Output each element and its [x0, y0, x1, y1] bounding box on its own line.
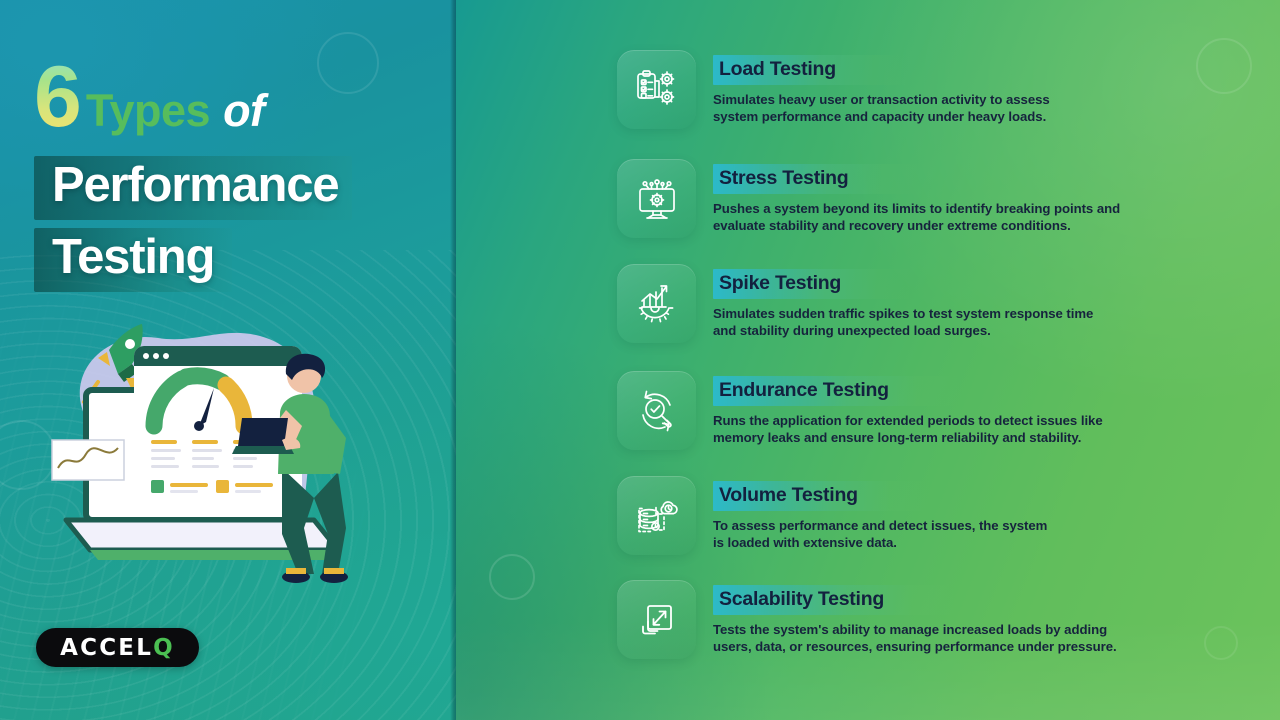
headline-band-testing: Testing [34, 228, 232, 292]
headline-types: Types [86, 88, 210, 142]
list-item-body: Volume Testing To assess performance and… [713, 476, 1047, 552]
list-item-body: Spike Testing Simulates sudden traffic s… [713, 264, 1093, 340]
bar-chart-gear-spike-icon [617, 264, 696, 343]
list-item[interactable]: Stress Testing Pushes a system beyond it… [617, 159, 1120, 238]
monitor-gear-stress-icon [617, 159, 696, 238]
left-panel: 6 Types of Performance Testing [0, 0, 456, 720]
headline-line-testing: Testing [52, 230, 214, 284]
logo-text: ACCELQ [60, 635, 175, 661]
list-item-description: Tests the system's ability to manage inc… [713, 621, 1117, 656]
list-item-body: Scalability Testing Tests the system's a… [713, 580, 1117, 656]
list-item-body: Load Testing Simulates heavy user or tra… [713, 50, 1050, 126]
headline-of: of [216, 88, 264, 142]
database-cloud-icon [617, 476, 696, 555]
list-item-title-bar: Scalability Testing [713, 585, 956, 615]
headline-row-top: 6 Types of [34, 54, 434, 142]
list-item-title-bar: Spike Testing [713, 269, 913, 299]
resize-squares-arrow-icon [617, 580, 696, 659]
logo-text-main: ACCEL [60, 635, 153, 661]
clipboard-gears-icon [617, 50, 696, 129]
headline-number: 6 [34, 54, 80, 142]
infographic-canvas: 6 Types of Performance Testing [0, 0, 1280, 720]
list-item[interactable]: Endurance Testing Runs the application f… [617, 371, 1103, 450]
list-item-title-bar: Volume Testing [713, 481, 930, 511]
line-chart-card [52, 440, 124, 480]
list-item-title-bar: Endurance Testing [713, 376, 961, 406]
list-item[interactable]: Volume Testing To assess performance and… [617, 476, 1047, 555]
list-item-description: Pushes a system beyond its limits to ide… [713, 200, 1120, 235]
list-item[interactable]: Spike Testing Simulates sudden traffic s… [617, 264, 1093, 343]
right-panel: Load Testing Simulates heavy user or tra… [456, 0, 1280, 720]
testing-types-list: Load Testing Simulates heavy user or tra… [456, 0, 1280, 720]
list-item-title: Stress Testing [719, 167, 848, 189]
headline-line-performance: Performance [52, 158, 338, 212]
list-item-description: Runs the application for extended period… [713, 412, 1103, 447]
list-item-title: Scalability Testing [719, 588, 884, 610]
logo-text-accent: Q [153, 635, 175, 661]
list-item-title: Endurance Testing [719, 379, 889, 401]
headline-band-performance: Performance [34, 156, 352, 220]
list-item-body: Stress Testing Pushes a system beyond it… [713, 159, 1120, 235]
performance-dashboard-illustration [46, 322, 406, 587]
page-title: 6 Types of Performance Testing [34, 54, 434, 292]
list-item-title: Spike Testing [719, 272, 841, 294]
list-item-description: To assess performance and detect issues,… [713, 517, 1047, 552]
list-item-title-bar: Load Testing [713, 55, 908, 85]
list-item-title: Volume Testing [719, 484, 858, 506]
list-item-body: Endurance Testing Runs the application f… [713, 371, 1103, 447]
list-item[interactable]: Load Testing Simulates heavy user or tra… [617, 50, 1050, 129]
list-item-title: Load Testing [719, 58, 836, 80]
list-item-title-bar: Stress Testing [713, 164, 920, 194]
list-item-description: Simulates heavy user or transaction acti… [713, 91, 1050, 126]
magnifier-check-refresh-icon [617, 371, 696, 450]
accelq-logo[interactable]: ACCELQ [36, 628, 199, 667]
list-item-description: Simulates sudden traffic spikes to test … [713, 305, 1093, 340]
list-item[interactable]: Scalability Testing Tests the system's a… [617, 580, 1117, 659]
